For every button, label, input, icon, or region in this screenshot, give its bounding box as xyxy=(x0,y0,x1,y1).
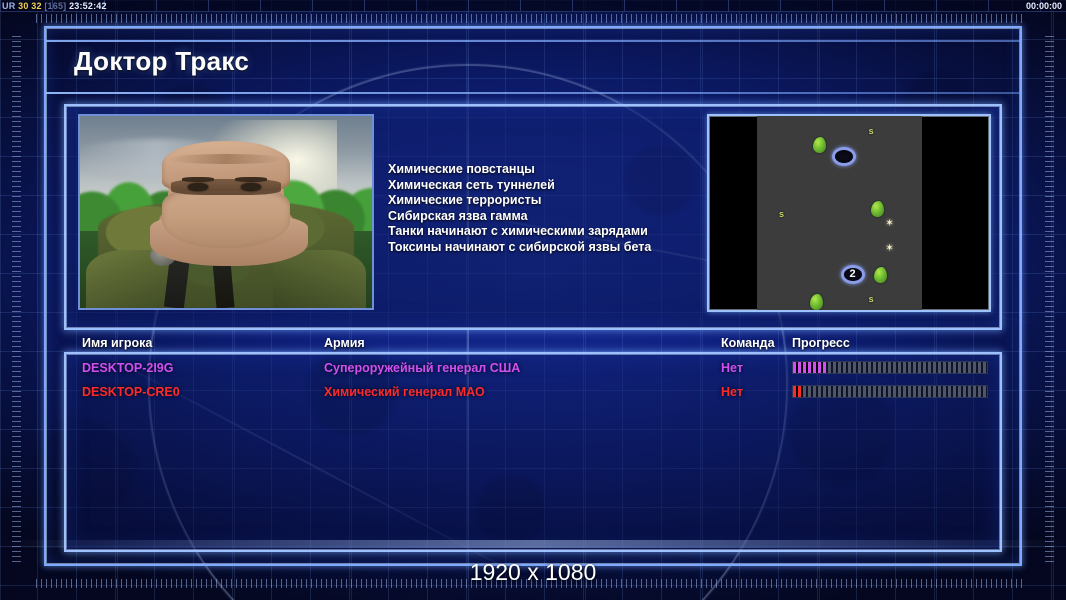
briefing-line: Химические повстанцы xyxy=(388,162,718,178)
map-tree-blob xyxy=(874,267,887,283)
resolution-label: 1920 x 1080 xyxy=(0,559,1066,586)
player-army: Супероружейный генерал США xyxy=(324,356,520,380)
bottom-sheen xyxy=(0,540,1066,548)
topbar-tick-marks xyxy=(0,0,1066,11)
portrait-brow-right xyxy=(235,177,267,181)
map-preview[interactable]: sss✶✶ 2 xyxy=(707,114,991,312)
player-progress-bar xyxy=(792,385,988,398)
column-header-progress: Прогресс xyxy=(792,336,850,350)
perf-bracket-value: [165] xyxy=(44,1,66,11)
page-title: Доктор Тракс xyxy=(74,46,249,77)
player-row[interactable]: DESKTOP-CRE0Химический генерал МАОНет xyxy=(66,380,1000,404)
player-name: DESKTOP-2I9G xyxy=(82,356,173,380)
map-star-prop: ✶ xyxy=(885,244,893,254)
column-header-army: Армия xyxy=(324,336,365,350)
map-small-prop: s xyxy=(869,294,874,304)
briefing-line: Танки начинают с химическими зарядами xyxy=(388,224,718,240)
perf-fps-value: 30 xyxy=(18,1,28,11)
top-status-bar: UR 30 32 [165] 23:52:42 00:00:00 xyxy=(0,0,1066,12)
title-bar: Доктор Тракс xyxy=(46,40,1020,92)
map-small-prop: s xyxy=(779,209,784,219)
map-star-prop: ✶ xyxy=(885,219,893,229)
column-header-player: Имя игрока xyxy=(82,336,152,350)
player-list-header: Имя игрока Армия Команда Прогресс xyxy=(66,336,1000,354)
perf-clock-value: 23:52:42 xyxy=(69,1,107,11)
title-divider-bottom xyxy=(46,92,1020,94)
game-timer: 00:00:00 xyxy=(1026,0,1062,12)
player-army: Химический генерал МАО xyxy=(324,380,485,404)
title-divider-top xyxy=(46,40,1020,42)
map-tree-blob xyxy=(810,294,823,310)
perf-prefix-label: UR xyxy=(2,1,15,11)
portrait-eye-left xyxy=(188,183,208,191)
map-tree-blob xyxy=(813,137,826,153)
perf-ms-value: 32 xyxy=(31,1,41,11)
player-team: Нет xyxy=(721,380,743,404)
progress-bar-fill xyxy=(793,386,803,397)
portrait-head-wrap-fold xyxy=(168,154,285,164)
portrait-face-mask xyxy=(162,187,290,248)
player-name: DESKTOP-CRE0 xyxy=(82,380,180,404)
column-header-team: Команда xyxy=(721,336,775,350)
briefing-line: Химические террористы xyxy=(388,193,718,209)
progress-bar-fill xyxy=(793,362,826,373)
portrait-eye-right xyxy=(241,183,261,191)
briefing-panel: Химические повстанцы Химическая сеть тун… xyxy=(64,104,1002,330)
map-start-position-marker[interactable]: 2 xyxy=(841,265,865,284)
progress-bar-track xyxy=(793,386,987,397)
briefing-line: Химическая сеть туннелей xyxy=(388,178,718,194)
briefing-line: Сибирская язва гамма xyxy=(388,209,718,225)
portrait-brow-left xyxy=(182,177,214,181)
commander-portrait xyxy=(78,114,374,310)
player-team: Нет xyxy=(721,356,743,380)
briefing-line: Токсины начинают с сибирской язвы бета xyxy=(388,240,718,256)
performance-readout: UR 30 32 [165] 23:52:42 xyxy=(2,0,107,12)
player-list-panel: Имя игрока Армия Команда Прогресс DESKTO… xyxy=(64,352,1002,552)
player-progress-bar xyxy=(792,361,988,374)
map-small-prop: s xyxy=(869,126,874,136)
briefing-description: Химические повстанцы Химическая сеть тун… xyxy=(388,162,718,256)
player-row[interactable]: DESKTOP-2I9GСупероружейный генерал СШАНе… xyxy=(66,356,1000,380)
